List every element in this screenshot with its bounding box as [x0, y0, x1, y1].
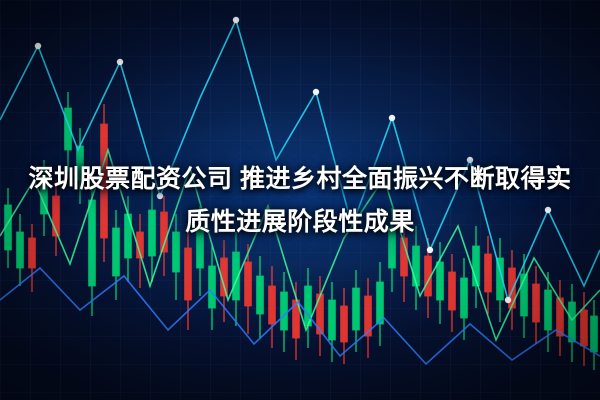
data-point-marker: [117, 59, 123, 65]
blue-baseline: [0, 268, 600, 364]
data-point-marker: [157, 193, 163, 199]
cyan-zigzag: [0, 20, 600, 300]
data-point-marker: [35, 43, 41, 49]
data-point-marker: [427, 247, 433, 253]
green-zigzag: [0, 150, 600, 340]
stock-market-banner-image: 深圳股票配资公司 推进乡村全面振兴不断取得实 质性进展阶段性成果: [0, 0, 600, 400]
data-point-marker: [313, 89, 319, 95]
trend-lines-chart: [0, 0, 600, 400]
data-point-marker: [233, 17, 239, 23]
data-point-marker: [545, 207, 551, 213]
data-point-marker: [389, 115, 395, 121]
data-point-marker: [467, 157, 473, 163]
data-point-marker: [505, 297, 511, 303]
